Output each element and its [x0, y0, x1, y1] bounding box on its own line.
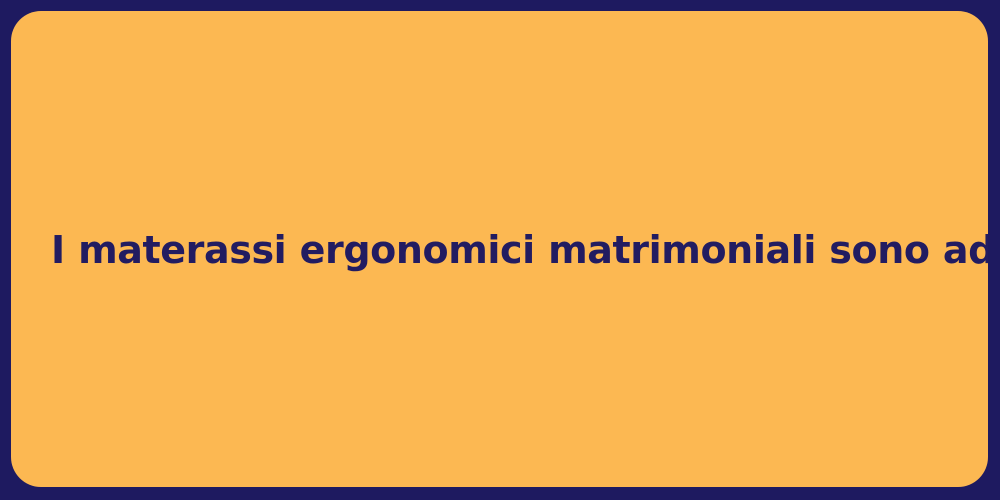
page-title: I materassi ergonomici matrimoniali sono…	[11, 228, 988, 273]
question-card: I materassi ergonomici matrimoniali sono…	[11, 11, 988, 487]
card-frame: I materassi ergonomici matrimoniali sono…	[0, 0, 1000, 500]
